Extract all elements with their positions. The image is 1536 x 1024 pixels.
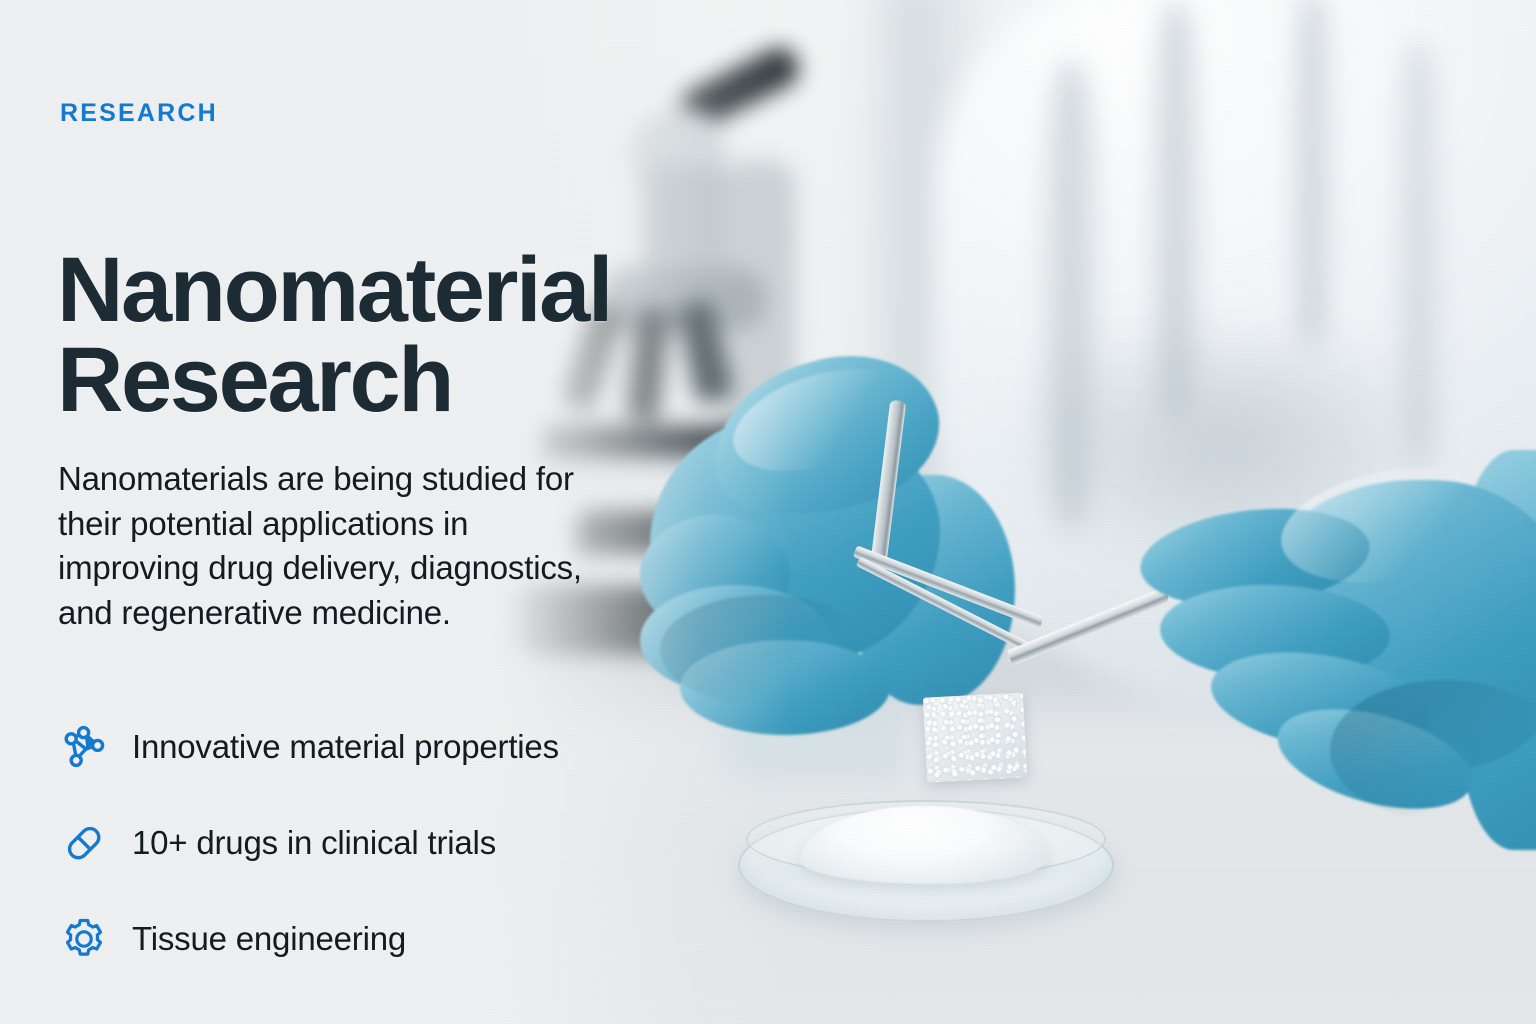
page-title: Nanomaterial Research bbox=[57, 245, 611, 425]
feature-label: 10+ drugs in clinical trials bbox=[132, 823, 496, 863]
text-panel: RESEARCH Nanomaterial Research Nanomater… bbox=[0, 0, 700, 1024]
feature-label: Tissue engineering bbox=[132, 919, 406, 959]
eyebrow-label: RESEARCH bbox=[60, 101, 218, 126]
feature-list: Innovative material properties 10+ drugs… bbox=[58, 705, 598, 981]
feature-label: Innovative material properties bbox=[132, 727, 559, 767]
molecule-icon bbox=[58, 721, 110, 773]
feature-item-clinical-trials: 10+ drugs in clinical trials bbox=[58, 801, 598, 885]
pill-capsule-icon bbox=[58, 817, 110, 869]
poster-canvas: RESEARCH Nanomaterial Research Nanomater… bbox=[0, 0, 1536, 1024]
gear-icon bbox=[58, 913, 110, 965]
feature-item-tissue-engineering: Tissue engineering bbox=[58, 897, 598, 981]
feature-item-material-properties: Innovative material properties bbox=[58, 705, 598, 789]
body-paragraph: Nanomaterials are being studied for thei… bbox=[58, 457, 588, 635]
